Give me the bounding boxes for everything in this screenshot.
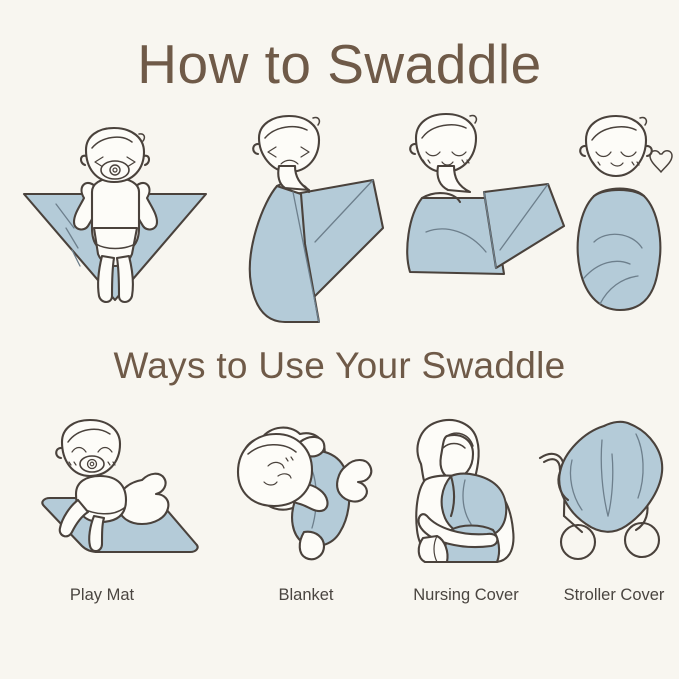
swaddle-step-wrap-complete-icon bbox=[570, 132, 675, 322]
use-label-stroller-cover: Stroller Cover bbox=[543, 584, 679, 606]
swaddle-step-4 bbox=[570, 132, 675, 322]
use-label-nursing-cover: Nursing Cover bbox=[396, 584, 536, 606]
use-item-nursing-cover bbox=[403, 420, 533, 570]
use-item-blanket bbox=[228, 420, 398, 570]
nursing-cover-icon bbox=[403, 420, 533, 570]
play-mat-icon bbox=[14, 420, 214, 570]
swaddle-step-lay-baby-on-diamond-blanket-icon bbox=[8, 132, 223, 322]
use-item-stroller-cover bbox=[538, 420, 678, 570]
swaddle-steps-row bbox=[0, 132, 679, 322]
use-labels-row: Play Mat Blanket Nursing Cover Stroller … bbox=[0, 584, 679, 608]
swaddle-step-fold-first-side-over-icon bbox=[223, 132, 393, 322]
blanket-icon bbox=[228, 420, 398, 570]
page-title: How to Swaddle bbox=[0, 33, 679, 95]
use-label-play-mat: Play Mat bbox=[32, 584, 172, 606]
heart-icon bbox=[650, 151, 672, 172]
swaddle-uses-row bbox=[0, 420, 679, 570]
section-title: Ways to Use Your Swaddle bbox=[0, 344, 679, 388]
swaddle-step-2 bbox=[223, 132, 393, 322]
swaddle-step-1 bbox=[8, 132, 223, 322]
swaddle-step-fold-bottom-up-icon bbox=[396, 132, 571, 322]
swaddle-step-3 bbox=[396, 132, 571, 322]
stroller-cover-icon bbox=[538, 420, 678, 570]
swaddle-infographic: How to Swaddle bbox=[0, 0, 679, 679]
use-item-play-mat bbox=[14, 420, 214, 570]
use-label-blanket: Blanket bbox=[238, 584, 374, 606]
